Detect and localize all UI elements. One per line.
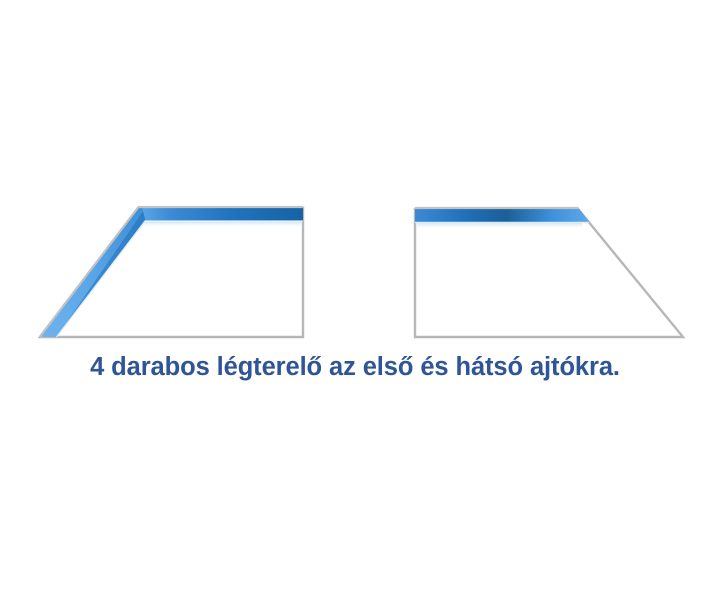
rear-door-window-shape bbox=[415, 208, 683, 337]
rear-door-deflector-strip bbox=[415, 208, 590, 223]
front-door-window-shape bbox=[40, 207, 303, 337]
product-figure: 4 darabos légterelő az első és hátsó ajt… bbox=[0, 0, 710, 613]
front-deflector-glow bbox=[142, 222, 302, 228]
wind-deflector-illustration-svg bbox=[0, 0, 710, 613]
product-caption: 4 darabos légterelő az első és hátsó ajt… bbox=[0, 353, 710, 382]
front-door-deflector-top bbox=[142, 207, 303, 221]
rear-deflector-glow bbox=[417, 223, 582, 229]
